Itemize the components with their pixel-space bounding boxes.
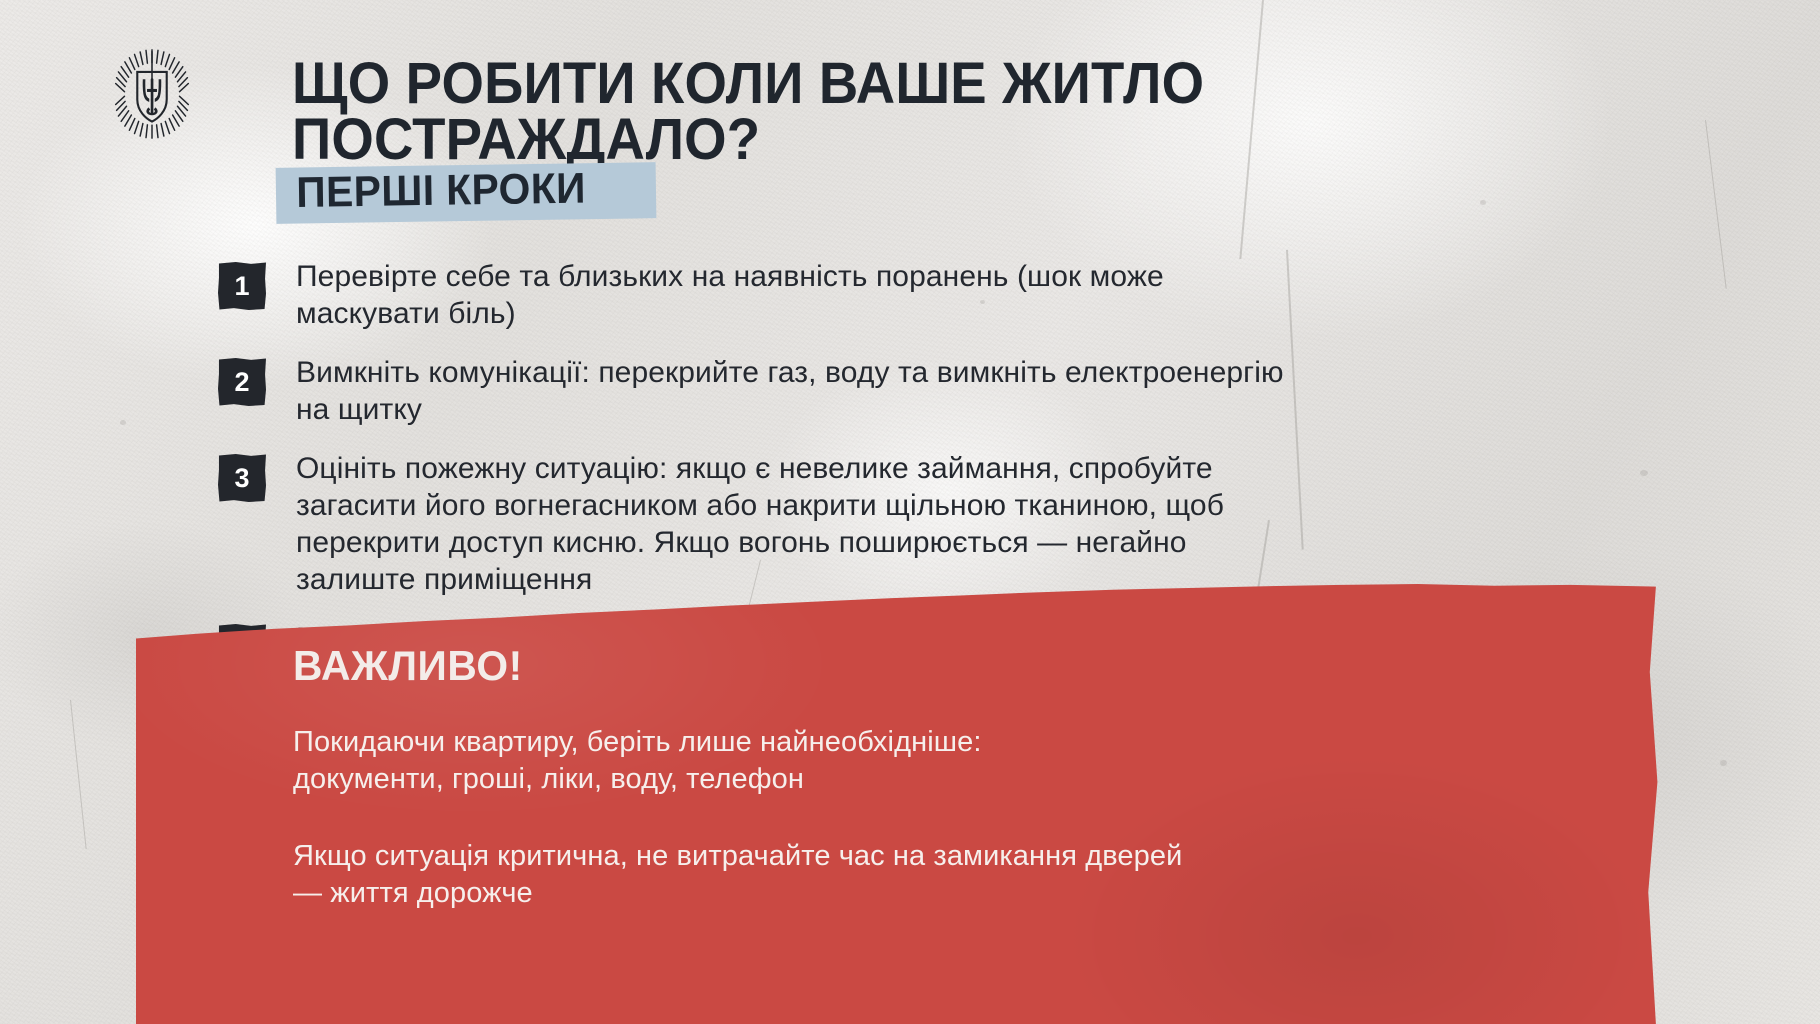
- step-number-badge: 1: [218, 262, 266, 310]
- step-number-badge: 2: [218, 358, 266, 406]
- texture-speck: [120, 420, 126, 425]
- texture-speck: [1480, 200, 1486, 205]
- list-item: 1 Перевірте себе та близьких на наявніст…: [218, 258, 1338, 332]
- step-number-badge: 3: [218, 454, 266, 502]
- page-subtitle: ПЕРШІ КРОКИ: [296, 162, 696, 218]
- step-text: Оцініть пожежну ситуацію: якщо є невелик…: [296, 450, 1224, 598]
- page-title: ЩО РОБИТИ КОЛИ ВАШЕ ЖИТЛО ПОСТРАЖДАЛО?: [292, 56, 1345, 168]
- step-text: Вимкніть комунікації: перекрийте газ, во…: [296, 354, 1284, 428]
- texture-speck: [1640, 470, 1648, 476]
- important-panel-content: ВАЖЛИВО! Покидаючи квартиру, беріть лише…: [293, 642, 1473, 912]
- step-text: Перевірте себе та близьких на наявність …: [296, 258, 1164, 332]
- list-item: 2 Вимкніть комунікації: перекрийте газ, …: [218, 354, 1338, 428]
- important-paragraph: Якщо ситуація критична, не витрачайте ча…: [293, 838, 1473, 912]
- important-notice-panel: ВАЖЛИВО! Покидаючи квартиру, беріть лише…: [136, 584, 1662, 1024]
- important-paragraph: Покидаючи квартиру, беріть лише найнеобх…: [293, 724, 1473, 798]
- ukraine-police-emblem-icon: [106, 48, 198, 140]
- list-item: 3 Оцініть пожежну ситуацію: якщо є невел…: [218, 450, 1338, 598]
- important-title: ВАЖЛИВО!: [293, 642, 1438, 690]
- texture-speck: [1720, 760, 1727, 766]
- infographic-poster: ЩО РОБИТИ КОЛИ ВАШЕ ЖИТЛО ПОСТРАЖДАЛО? П…: [0, 0, 1820, 1024]
